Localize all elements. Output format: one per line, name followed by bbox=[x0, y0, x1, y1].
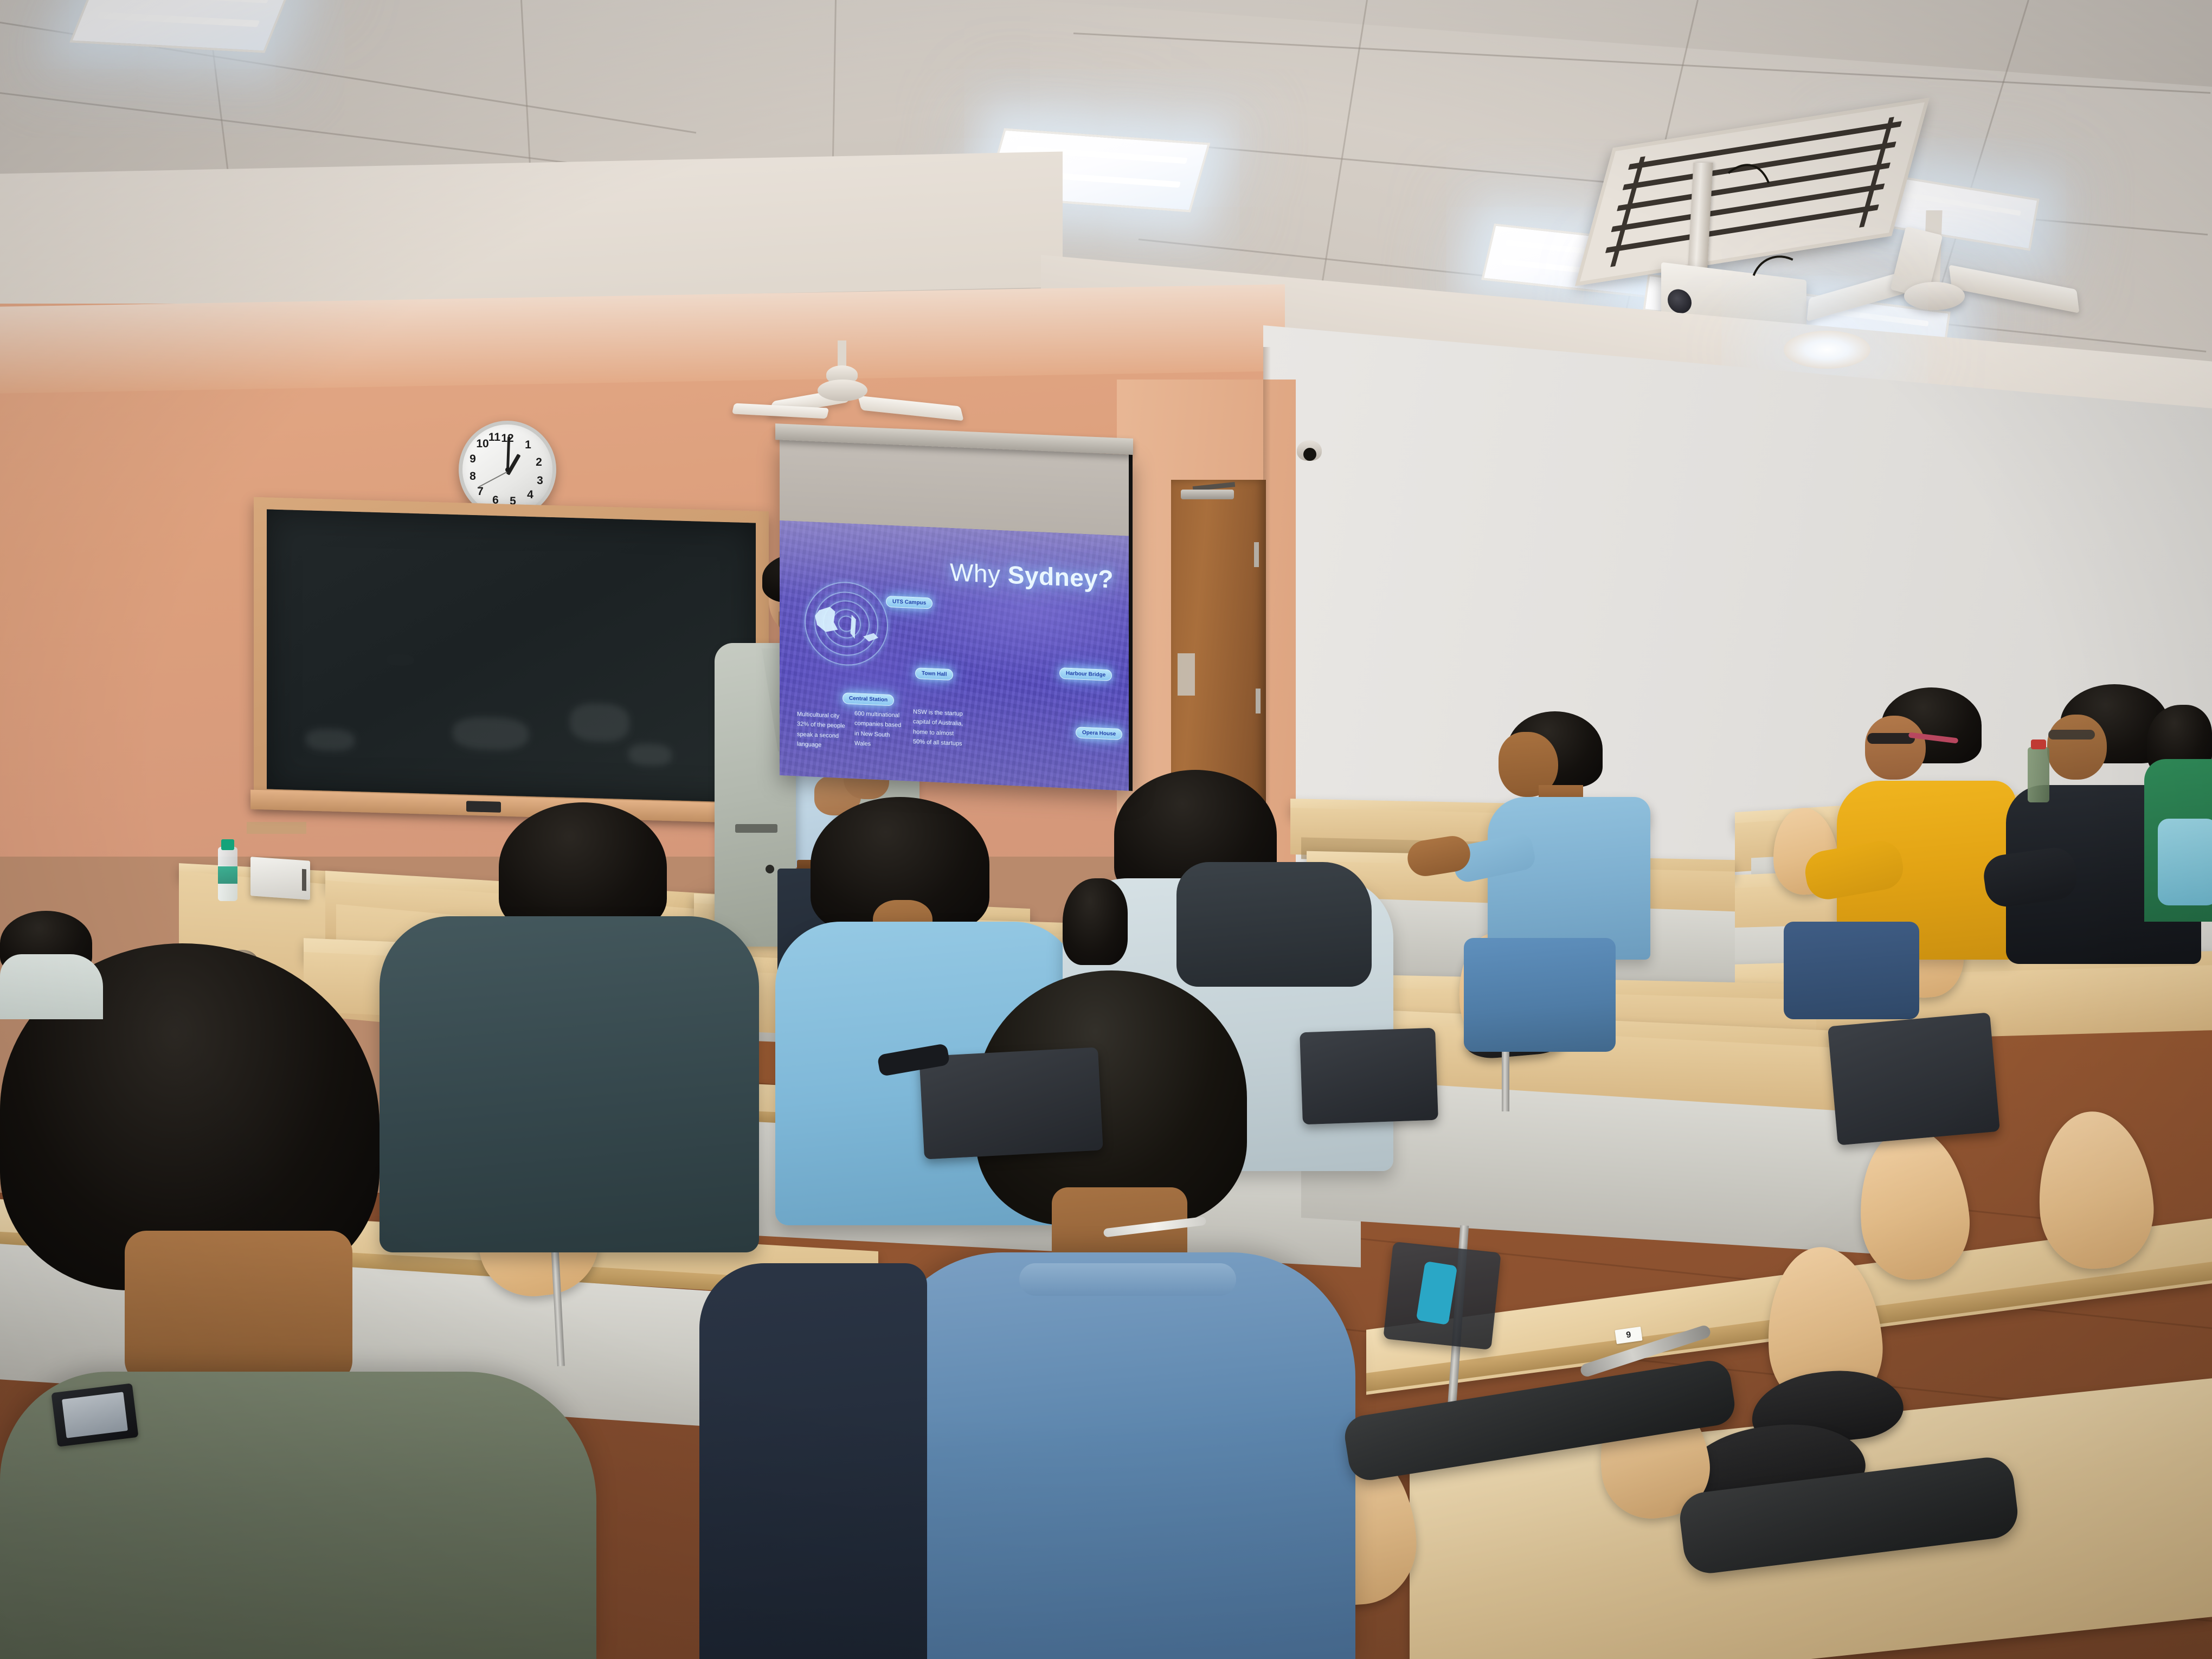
clock-numeral: 3 bbox=[533, 474, 547, 487]
backpack[interactable] bbox=[919, 1047, 1103, 1159]
slide-title-bold: Sydney? bbox=[1008, 561, 1114, 594]
clock-numeral: 9 bbox=[466, 453, 480, 466]
water-bottle-label bbox=[218, 866, 237, 884]
presentation-slide: Why Sydney? UTS Campus Town Hall Central… bbox=[780, 520, 1129, 791]
podium-device[interactable] bbox=[250, 857, 310, 900]
projector-lens-icon bbox=[1668, 288, 1692, 314]
chalkboard bbox=[254, 497, 769, 820]
chair-pole bbox=[1502, 1046, 1509, 1111]
slide-title-light: Why bbox=[950, 558, 1008, 589]
slide-map-label-central-station: Central Station bbox=[843, 692, 894, 706]
ceiling-fan-hub bbox=[1904, 282, 1965, 310]
student-shirt-dark-teal bbox=[380, 916, 759, 1252]
student-trousers bbox=[699, 1263, 927, 1659]
water-bottle-cap bbox=[221, 839, 234, 850]
screen-blank-area bbox=[780, 439, 1129, 536]
slide-map-label-harbour-bridge: Harbour Bridge bbox=[1059, 667, 1112, 681]
eyeglasses-icon bbox=[1867, 733, 1915, 744]
backpack[interactable] bbox=[1300, 1028, 1438, 1125]
student-hoodie-hood bbox=[1176, 862, 1372, 987]
slide-fact-3: NSW is the startup capital of Australia,… bbox=[913, 706, 967, 749]
clock-numeral: 7 bbox=[473, 485, 487, 498]
slide-fact-1: Multicultural city 32% of the people spe… bbox=[797, 709, 847, 750]
student-shirt-collar bbox=[1019, 1263, 1236, 1296]
clock-second-hand bbox=[479, 471, 508, 487]
slide-map-label-uts-campus: UTS Campus bbox=[886, 596, 933, 609]
ceiling-fan-hub bbox=[818, 380, 867, 401]
slide-fact-text: 600 multinational companies based in New… bbox=[854, 710, 901, 747]
presenter-blazer-button bbox=[766, 865, 774, 873]
student-shirt-light bbox=[0, 954, 103, 1019]
clock-numeral: 11 bbox=[487, 431, 501, 444]
backpack[interactable] bbox=[1828, 1012, 2000, 1145]
door-hinge bbox=[1256, 689, 1261, 713]
slide-radar-graphic bbox=[805, 580, 886, 665]
student-jeans bbox=[1464, 938, 1616, 1052]
slide-fact-2: 600 multinational companies based in New… bbox=[854, 708, 904, 750]
slide-fact-text: Multicultural city 32% of the people spe… bbox=[797, 711, 845, 748]
presenter-blazer-pocket bbox=[735, 824, 777, 833]
student-jeans bbox=[1784, 922, 1919, 1019]
slide-map-label-opera-house: Opera House bbox=[1076, 726, 1122, 740]
slide-fact-text: NSW is the startup capital of Australia,… bbox=[913, 709, 963, 747]
chalkboard-duster bbox=[466, 801, 501, 813]
water-bottle-cap bbox=[2031, 740, 2046, 749]
clock-numeral: 8 bbox=[466, 470, 480, 483]
student-shirt-pattern bbox=[2158, 819, 2212, 905]
security-camera-lens-icon bbox=[1303, 448, 1316, 461]
slide-map-label-town-hall: Town Hall bbox=[915, 667, 953, 680]
clock-numeral: 2 bbox=[532, 456, 546, 469]
projection-screen: Why Sydney? UTS Campus Town Hall Central… bbox=[780, 439, 1133, 791]
door-closer bbox=[1181, 490, 1234, 499]
water-bottle[interactable] bbox=[2028, 747, 2049, 802]
chalkboard-surface bbox=[267, 509, 756, 802]
clock-center-pin bbox=[505, 467, 510, 472]
clock-numeral: 1 bbox=[521, 439, 535, 452]
wall-frame bbox=[247, 822, 306, 834]
clock-numeral: 4 bbox=[523, 488, 537, 501]
student-hair bbox=[1063, 878, 1128, 965]
wall-downlight-glow bbox=[1784, 331, 1870, 369]
student-shirt-blue-polo bbox=[1488, 797, 1650, 960]
student-shirt-blue-heather bbox=[878, 1252, 1355, 1659]
smartphone[interactable] bbox=[51, 1383, 138, 1447]
student-face bbox=[2047, 715, 2107, 780]
ceiling-soffit-left bbox=[0, 151, 1063, 309]
eyeglasses-icon bbox=[2048, 730, 2095, 740]
door-kick-plate bbox=[1178, 653, 1195, 696]
student-face bbox=[1865, 716, 1926, 780]
student-neck bbox=[125, 1231, 352, 1382]
student-hair bbox=[499, 802, 667, 933]
classroom-scene: 12 1 2 3 4 5 6 7 8 9 10 11 Why bbox=[0, 0, 2212, 1659]
door-hinge bbox=[1254, 542, 1259, 567]
